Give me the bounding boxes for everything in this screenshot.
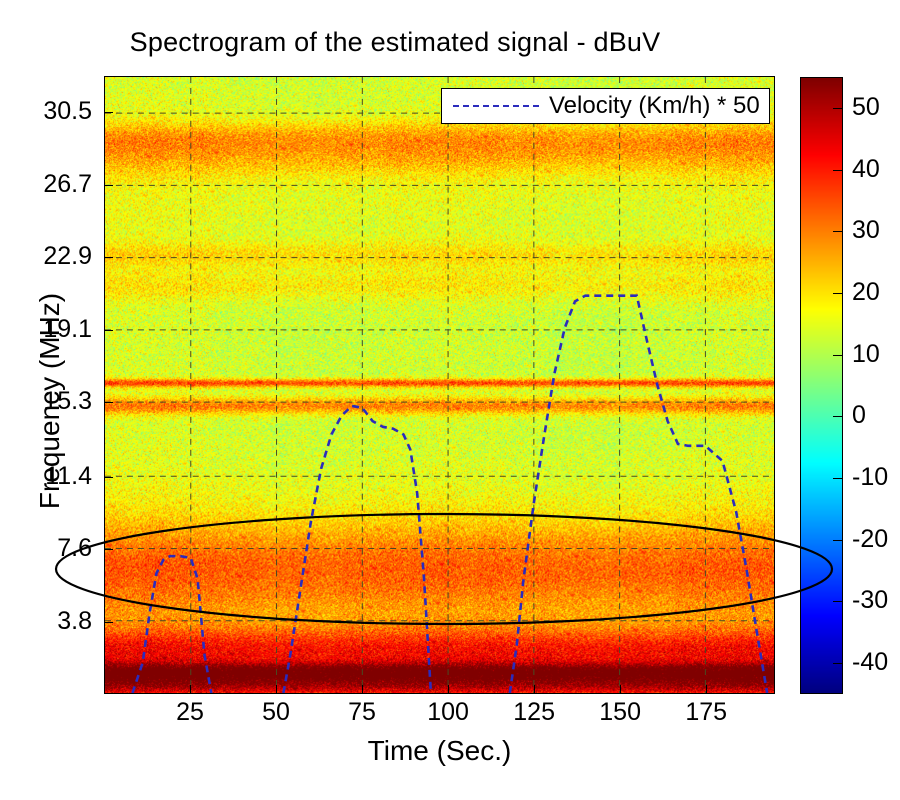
colorbar-tick-mark [833,170,842,171]
x-axis-tick-label: 100 [427,700,469,725]
colorbar-tick-label: -20 [852,527,888,552]
y-axis-tick-mark [104,402,113,403]
y-axis-tick-label: 3.8 [57,609,92,634]
colorbar-tick-mark [833,601,842,602]
x-axis-tick-label: 175 [685,700,727,725]
y-axis-tick-label: 19.1 [43,317,92,342]
colorbar-tick-label: -30 [852,588,888,613]
y-axis-tick-mark [104,257,113,258]
y-axis-tick-mark [104,185,113,186]
y-axis-tick-label: 30.5 [43,99,92,124]
plot-overlay [105,77,774,693]
colorbar-tick-label: 50 [852,95,880,120]
colorbar-tick-mark [833,540,842,541]
y-axis-tick-mark [104,477,113,478]
colorbar-tick-label: -40 [852,650,888,675]
colorbar-tick-mark [833,663,842,664]
x-axis-tick-mark [706,685,707,694]
y-axis-tick-label: 26.7 [43,172,92,197]
x-axis-label: Time (Sec.) [104,735,775,767]
colorbar-tick-label: 0 [852,403,866,428]
colorbar-tick-mark [833,478,842,479]
y-axis-tick-label: 11.4 [45,464,92,489]
y-axis-tick-label: 22.9 [43,244,92,269]
x-axis-tick-mark [190,685,191,694]
colorbar-tick-label: 40 [852,157,880,182]
legend[interactable]: Velocity (Km/h) * 50 [441,88,770,124]
colorbar-tick-mark [833,231,842,232]
x-axis-tick-mark [534,685,535,694]
x-axis-tick-mark [448,685,449,694]
y-axis-tick-label: 15.3 [43,389,92,414]
colorbar-tick-label: 10 [852,342,880,367]
colorbar-tick-mark [833,416,842,417]
x-axis-tick-label: 125 [513,700,555,725]
y-axis-tick-mark [104,622,113,623]
colorbar-tick-label: 30 [852,218,880,243]
colorbar-tick-label: -10 [852,465,888,490]
colorbar-tick-label: 20 [852,280,880,305]
spectrogram-plot-area[interactable] [104,76,775,694]
legend-label-velocity: Velocity (Km/h) * 50 [549,92,760,120]
y-axis-tick-mark [104,112,113,113]
x-axis-tick-label: 150 [599,700,641,725]
x-axis-tick-label: 75 [348,700,376,725]
x-axis-tick-mark [620,685,621,694]
x-axis-tick-mark [276,685,277,694]
y-axis-tick-mark [104,330,113,331]
colorbar-tick-mark [833,108,842,109]
x-axis-tick-label: 25 [176,700,204,725]
y-axis-tick-label: 7.6 [57,536,92,561]
y-axis-tick-mark [104,549,113,550]
colorbar-tick-mark [833,293,842,294]
legend-line-velocity [453,105,539,107]
x-axis-tick-mark [362,685,363,694]
page-title: Spectrogram of the estimated signal - dB… [0,27,790,58]
colorbar-tick-mark [833,355,842,356]
x-axis-tick-label: 50 [262,700,290,725]
